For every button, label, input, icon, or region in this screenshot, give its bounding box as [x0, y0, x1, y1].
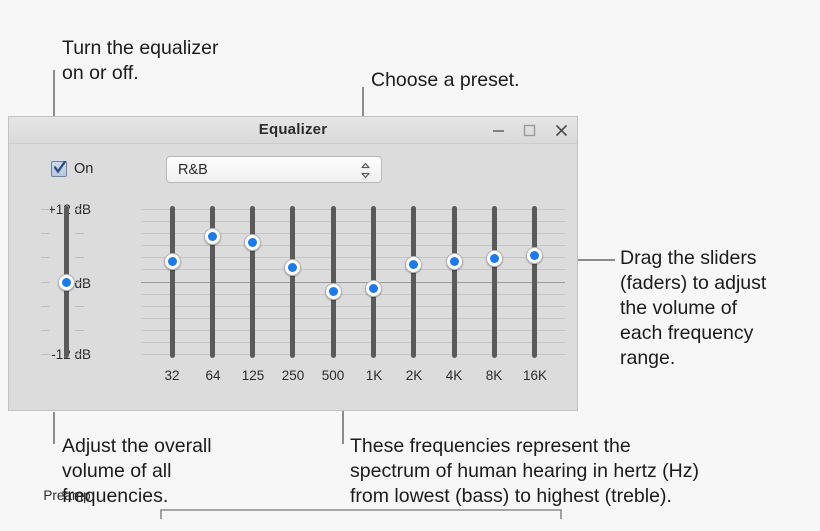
preamp-tick [41, 257, 50, 258]
gridline [141, 269, 565, 270]
band-slider-knob-4K[interactable] [446, 253, 463, 270]
window-titlebar[interactable]: Equalizer [9, 117, 577, 144]
equalizer-window: Equalizer On R&B +12 dB 0 dB -12 [8, 116, 578, 411]
band-label-4K: 4K [432, 368, 476, 383]
band-slider-knob-125[interactable] [244, 234, 261, 251]
band-slider-knob-16K[interactable] [526, 247, 543, 264]
band-slider-knob-1K[interactable] [365, 280, 382, 297]
band-slider-track-250[interactable] [290, 206, 295, 358]
band-slider-knob-2K[interactable] [405, 256, 422, 273]
band-slider-knob-500[interactable] [325, 283, 342, 300]
equalizer-on-label: On [74, 161, 93, 177]
preamp-tick [41, 282, 50, 283]
preamp-tick [41, 209, 50, 210]
gridline [141, 354, 565, 355]
band-slider-knob-8K[interactable] [486, 250, 503, 267]
band-slider-knob-32[interactable] [164, 253, 181, 270]
band-slider-track-16K[interactable] [532, 206, 537, 358]
preamp-tick [75, 233, 84, 234]
minimize-icon[interactable] [490, 122, 507, 139]
band-label-500: 500 [311, 368, 355, 383]
preamp-tick [75, 257, 84, 258]
preamp-tick [75, 330, 84, 331]
band-slider-track-2K[interactable] [411, 206, 416, 358]
band-label-32: 32 [150, 368, 194, 383]
gridline [141, 306, 565, 307]
preamp-slider-knob[interactable] [58, 274, 75, 291]
annotation-frequency-spectrum: These frequencies represent the spectrum… [350, 434, 699, 509]
gridline [141, 330, 565, 331]
gridline [141, 209, 565, 210]
annotation-drag-sliders: Drag the sliders (faders) to adjust the … [620, 246, 766, 371]
preamp-tick [75, 354, 84, 355]
band-label-125: 125 [231, 368, 275, 383]
band-label-64: 64 [191, 368, 235, 383]
leader-line-preamp [53, 412, 55, 444]
preamp-tick [41, 233, 50, 234]
preamp-label: Preamp [32, 488, 102, 503]
annotation-choose-preset: Choose a preset. [371, 68, 520, 93]
updown-chevron-icon [360, 162, 371, 184]
gridline [141, 318, 565, 319]
equalizer-enable-row[interactable]: On [51, 161, 93, 177]
band-label-250: 250 [271, 368, 315, 383]
band-slider-track-500[interactable] [331, 206, 336, 358]
gridline [141, 245, 565, 246]
gridline [141, 342, 565, 343]
preamp-tick [75, 282, 84, 283]
leader-line-on-off [53, 70, 55, 120]
gridline-zero-db [141, 282, 565, 283]
band-label-8K: 8K [472, 368, 516, 383]
preamp-tick [41, 306, 50, 307]
band-slider-track-4K[interactable] [452, 206, 457, 358]
band-slider-knob-64[interactable] [204, 228, 221, 245]
frequency-range-bracket [160, 507, 562, 518]
preset-selected-value: R&B [178, 162, 208, 178]
band-label-1K: 1K [352, 368, 396, 383]
preamp-tick [41, 330, 50, 331]
band-slider-track-8K[interactable] [492, 206, 497, 358]
gridline [141, 221, 565, 222]
band-slider-track-125[interactable] [250, 206, 255, 358]
band-label-2K: 2K [392, 368, 436, 383]
annotation-turn-equalizer-on-off: Turn the equalizer on or off. [62, 36, 218, 86]
close-icon[interactable] [553, 122, 570, 139]
band-slider-knob-250[interactable] [284, 259, 301, 276]
preamp-tick [41, 354, 50, 355]
equalizer-on-checkbox[interactable] [51, 161, 67, 177]
preset-select[interactable]: R&B [166, 156, 382, 183]
gridline [141, 294, 565, 295]
maximize-icon[interactable] [521, 122, 538, 139]
band-slider-track-32[interactable] [170, 206, 175, 358]
preamp-tick [75, 209, 84, 210]
checkmark-icon [54, 161, 66, 174]
band-label-16K: 16K [513, 368, 557, 383]
preamp-tick [75, 306, 84, 307]
